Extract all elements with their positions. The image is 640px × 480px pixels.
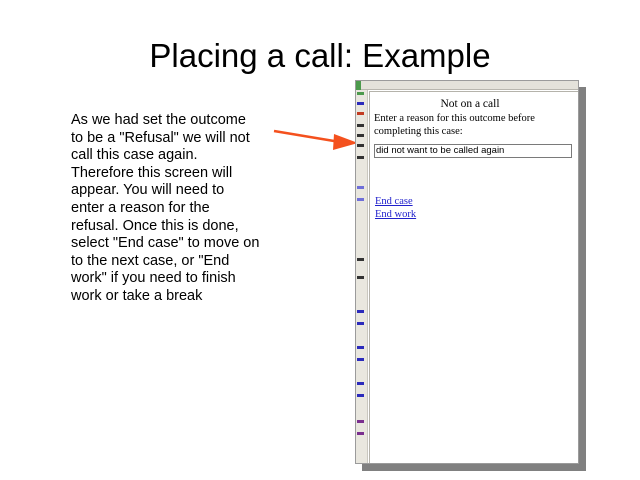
sliver-mark	[357, 276, 364, 279]
sliver-mark	[357, 144, 364, 147]
screenshot-window-frame: Not on a call Enter a reason for this ou…	[355, 80, 579, 464]
background-window-sliver	[356, 90, 368, 463]
sliver-mark	[357, 322, 364, 325]
sliver-mark	[357, 134, 364, 137]
page-title: Placing a call: Example	[0, 37, 640, 75]
sliver-mark	[357, 102, 364, 105]
end-work-link[interactable]: End work	[375, 208, 495, 221]
sliver-mark	[357, 382, 364, 385]
sliver-mark	[357, 420, 364, 423]
reason-input[interactable]	[374, 144, 572, 158]
toolbar-green-marker	[356, 81, 361, 90]
embedded-screenshot: Not on a call Enter a reason for this ou…	[355, 80, 579, 464]
captured-window-toolbar	[356, 81, 578, 90]
captured-page-content: Not on a call Enter a reason for this ou…	[369, 91, 578, 463]
sliver-mark	[357, 358, 364, 361]
sliver-mark	[357, 198, 364, 201]
captured-links-group: End case End work	[375, 195, 495, 221]
sliver-mark	[357, 432, 364, 435]
captured-instruction-text: Enter a reason for this outcome before c…	[374, 113, 575, 138]
sliver-mark	[357, 112, 364, 115]
captured-page-heading: Not on a call	[370, 98, 570, 110]
sliver-mark	[357, 156, 364, 159]
sliver-mark	[357, 124, 364, 127]
sliver-mark	[357, 92, 364, 95]
red-arrow-icon	[268, 120, 360, 160]
sliver-mark	[357, 310, 364, 313]
sliver-mark	[357, 346, 364, 349]
sliver-mark	[357, 258, 364, 261]
sliver-mark	[357, 186, 364, 189]
slide-body-text: As we had set the outcome to be a "Refus…	[71, 112, 261, 306]
reason-input-wrapper	[374, 140, 572, 154]
presentation-slide: Placing a call: Example As we had set th…	[0, 0, 640, 480]
red-arrow-pointer	[268, 120, 360, 160]
end-case-link[interactable]: End case	[375, 195, 495, 208]
sliver-mark	[357, 394, 364, 397]
